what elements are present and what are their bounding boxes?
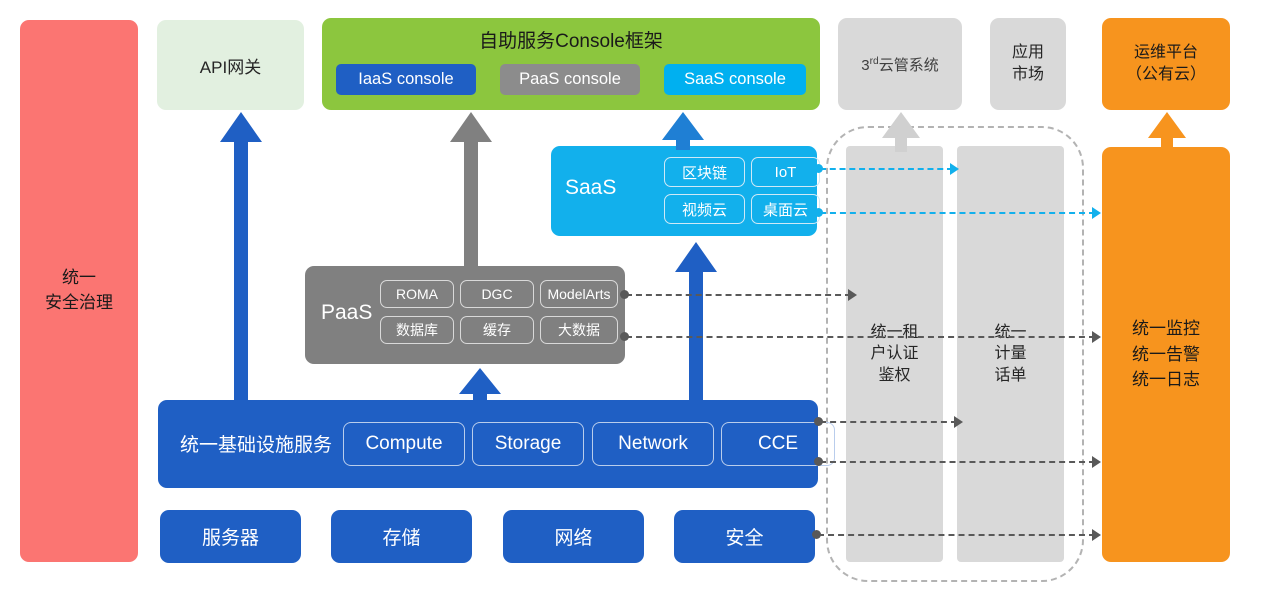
arrow-iaas-to-saas [673,242,719,404]
paas-item-dgc[interactable]: DGC [460,280,534,308]
app-market-box[interactable]: 应用 市场 [990,18,1066,110]
iaas-label: 统一基础设施服务 [180,430,332,457]
connector-arrowhead-paas-auth [848,289,857,301]
connector-saas-to-ops [820,212,1095,214]
iaas-console-chip[interactable]: IaaS console [336,64,476,95]
connector-iaas-to-metering [820,421,957,423]
ops-platform-line-1: 运维平台 [1126,42,1206,64]
ops-body-line-2: 统一告警 [1132,342,1200,368]
iaas-item-storage[interactable]: Storage [472,422,584,466]
security-line-2: 安全治理 [45,291,113,316]
hardware-item-storage[interactable]: 存储 [331,510,472,563]
arrow-ops-body-to-ops-platform [1146,112,1188,152]
ops-platform-box[interactable]: 运维平台 （公有云） [1102,18,1230,110]
paas-label: PaaS [321,301,372,325]
metering-line-2: 计量 [994,343,1026,365]
connector-paas-to-tenant-auth [626,294,851,296]
connector-arrowhead-hardware-ops [1092,529,1101,541]
unified-metering-column[interactable]: 统一 计量 话单 [957,146,1064,562]
arrow-paas-to-console [448,112,494,270]
connector-arrowhead-iaas-ops [1092,456,1101,468]
saas-item-desktop-cloud[interactable]: 桌面云 [751,194,820,224]
console-framework-box[interactable]: 自助服务Console框架 IaaS console PaaS console … [322,18,820,110]
paas-item-roma[interactable]: ROMA [380,280,454,308]
connector-paas-to-ops [626,336,1095,338]
hardware-item-server[interactable]: 服务器 [160,510,301,563]
ops-body-line-3: 统一日志 [1132,367,1200,393]
saas-item-blockchain[interactable]: 区块链 [664,157,745,187]
api-gateway-label: API网关 [200,53,261,78]
paas-layer-box[interactable]: PaaS ROMA DGC ModelArts 数据库 缓存 大数据 [305,266,625,364]
connector-iaas-to-ops [820,461,1095,463]
tenant-auth-line-2: 户认证 [870,343,918,365]
iaas-item-compute[interactable]: Compute [343,422,465,466]
saas-layer-box[interactable]: SaaS 区块链 IoT 视频云 桌面云 [551,146,817,236]
connector-hardware-to-ops [818,534,1095,536]
saas-item-iot[interactable]: IoT [751,157,820,187]
hardware-item-security[interactable]: 安全 [674,510,815,563]
connector-saas-to-tenant-auth [820,168,953,170]
tenant-auth-line-3: 鉴权 [870,365,918,387]
architecture-diagram: 统一 安全治理 API网关 自助服务Console框架 IaaS console… [0,0,1265,605]
saas-console-chip[interactable]: SaaS console [664,64,806,95]
metering-line-3: 话单 [994,365,1026,387]
saas-label: SaaS [565,176,616,200]
third-party-cloud-management-box[interactable]: 3rd云管系统 [838,18,962,110]
saas-item-video-cloud[interactable]: 视频云 [664,194,745,224]
app-market-line-2: 市场 [1012,64,1044,86]
paas-item-cache[interactable]: 缓存 [460,316,534,344]
paas-item-database[interactable]: 数据库 [380,316,454,344]
unified-security-governance-panel[interactable]: 统一 安全治理 [20,20,138,562]
ops-platform-line-2: （公有云） [1126,64,1206,86]
metering-line-1: 统一 [994,322,1026,344]
iaas-item-network[interactable]: Network [592,422,714,466]
arrow-iaas-to-api-gateway [218,112,264,404]
paas-item-modelarts[interactable]: ModelArts [540,280,618,308]
arrow-tenant-auth-to-third-cloud [880,112,922,152]
security-line-1: 统一 [45,266,113,291]
paas-item-bigdata[interactable]: 大数据 [540,316,618,344]
arrow-iaas-to-paas [457,368,503,404]
connector-arrowhead-saas-auth [950,163,959,175]
app-market-line-1: 应用 [1012,42,1044,64]
connector-arrowhead-saas-ops [1092,207,1101,219]
connector-arrowhead-paas-ops [1092,331,1101,343]
arrow-saas-to-console [660,112,706,150]
third-cloud-label: 3rd云管系统 [861,54,938,75]
unified-tenant-auth-column[interactable]: 统一租 户认证 鉴权 [846,146,943,562]
api-gateway-box[interactable]: API网关 [157,20,304,110]
tenant-auth-line-1: 统一租 [870,322,918,344]
console-framework-title: 自助服务Console框架 [322,26,820,53]
ops-body-line-1: 统一监控 [1132,316,1200,342]
connector-arrowhead-iaas-auth [954,416,963,428]
hardware-item-network[interactable]: 网络 [503,510,644,563]
paas-console-chip[interactable]: PaaS console [500,64,640,95]
unified-monitoring-panel[interactable]: 统一监控 统一告警 统一日志 [1102,147,1230,562]
iaas-layer-box[interactable]: 统一基础设施服务 Compute Storage Network CCE [158,400,818,488]
